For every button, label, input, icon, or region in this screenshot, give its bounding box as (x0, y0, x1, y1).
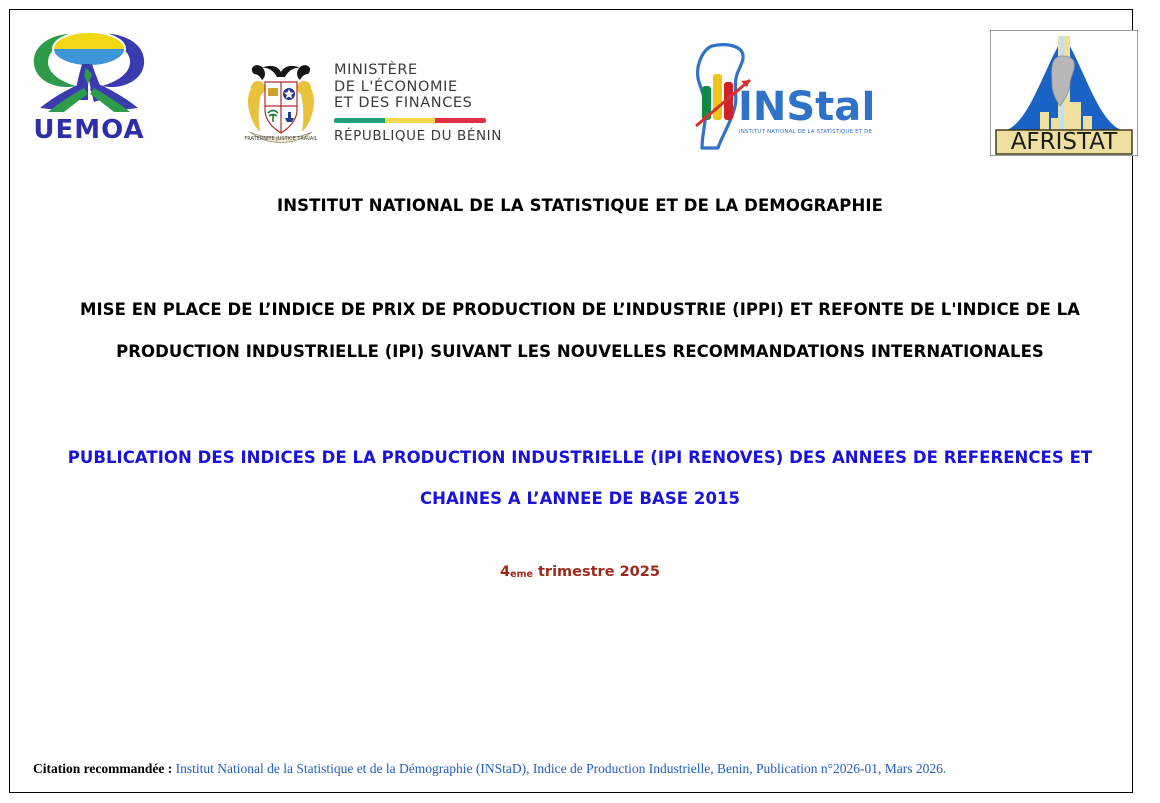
publication-period-ordinal: eme (510, 569, 533, 580)
logo-band: UEMOA (0, 0, 1160, 150)
ministry-text-block: MINISTÈRE DE L'ÉCONOMIE ET DES FINANCES … (334, 58, 502, 144)
svg-text:AFRISTAT: AFRISTAT (1011, 129, 1119, 155)
institution-title: INSTITUT NATIONAL DE LA STATISTIQUE ET D… (0, 196, 1160, 215)
benin-flag-rule-icon (334, 118, 486, 123)
main-title: MISE EN PLACE DE L’INDICE DE PRIX DE PRO… (50, 289, 1110, 373)
citation-footer: Citation recommandée : Institut National… (33, 761, 1113, 777)
main-title-line-2: PRODUCTION INDUSTRIELLE (IPI) SUIVANT LE… (50, 331, 1110, 373)
uemoa-wordmark: UEMOA (14, 116, 164, 144)
publication-period-number: 4 (500, 564, 510, 580)
uemoa-logo: UEMOA (14, 16, 164, 148)
publication-period-label: trimestre 2025 (533, 564, 660, 580)
main-title-line-1: MISE EN PLACE DE L’INDICE DE PRIX DE PRO… (50, 289, 1110, 331)
svg-text:FRATERNITE JUSTICE TRAVAIL: FRATERNITE JUSTICE TRAVAIL (244, 136, 317, 142)
afristat-logo: AFRISTAT (990, 30, 1138, 156)
svg-text:INStaD: INStaD (738, 84, 872, 130)
publication-subtitle-line-1: PUBLICATION DES INDICES DE LA PRODUCTION… (30, 437, 1130, 478)
ministry-line-1: MINISTÈRE (334, 62, 502, 79)
publication-subtitle: PUBLICATION DES INDICES DE LA PRODUCTION… (30, 437, 1130, 519)
svg-text:INSTITUT NATIONAL DE LA STATIS: INSTITUT NATIONAL DE LA STATISTIQUE ET D… (739, 127, 872, 135)
instad-logo: INStaD INSTITUT NATIONAL DE LA STATISTIQ… (672, 40, 872, 152)
ministry-republic-label: RÉPUBLIQUE DU BÉNIN (334, 128, 502, 145)
publication-period: 4eme trimestre 2025 (0, 564, 1160, 580)
benin-coat-of-arms-icon: FRATERNITE JUSTICE TRAVAIL (238, 58, 324, 148)
publication-subtitle-line-2: CHAINES A L’ANNEE DE BASE 2015 (30, 478, 1130, 519)
ministry-line-2: DE L'ÉCONOMIE (334, 79, 502, 96)
citation-reference: Institut National de la Statistique et d… (172, 761, 946, 776)
uemoa-emblem-icon (14, 16, 164, 116)
ministry-line-3: ET DES FINANCES (334, 95, 502, 112)
citation-label: Citation recommandée : (33, 761, 172, 776)
document-page: UEMOA (0, 0, 1160, 803)
ministry-economy-finances-logo: FRATERNITE JUSTICE TRAVAIL MINISTÈRE DE … (238, 58, 506, 150)
